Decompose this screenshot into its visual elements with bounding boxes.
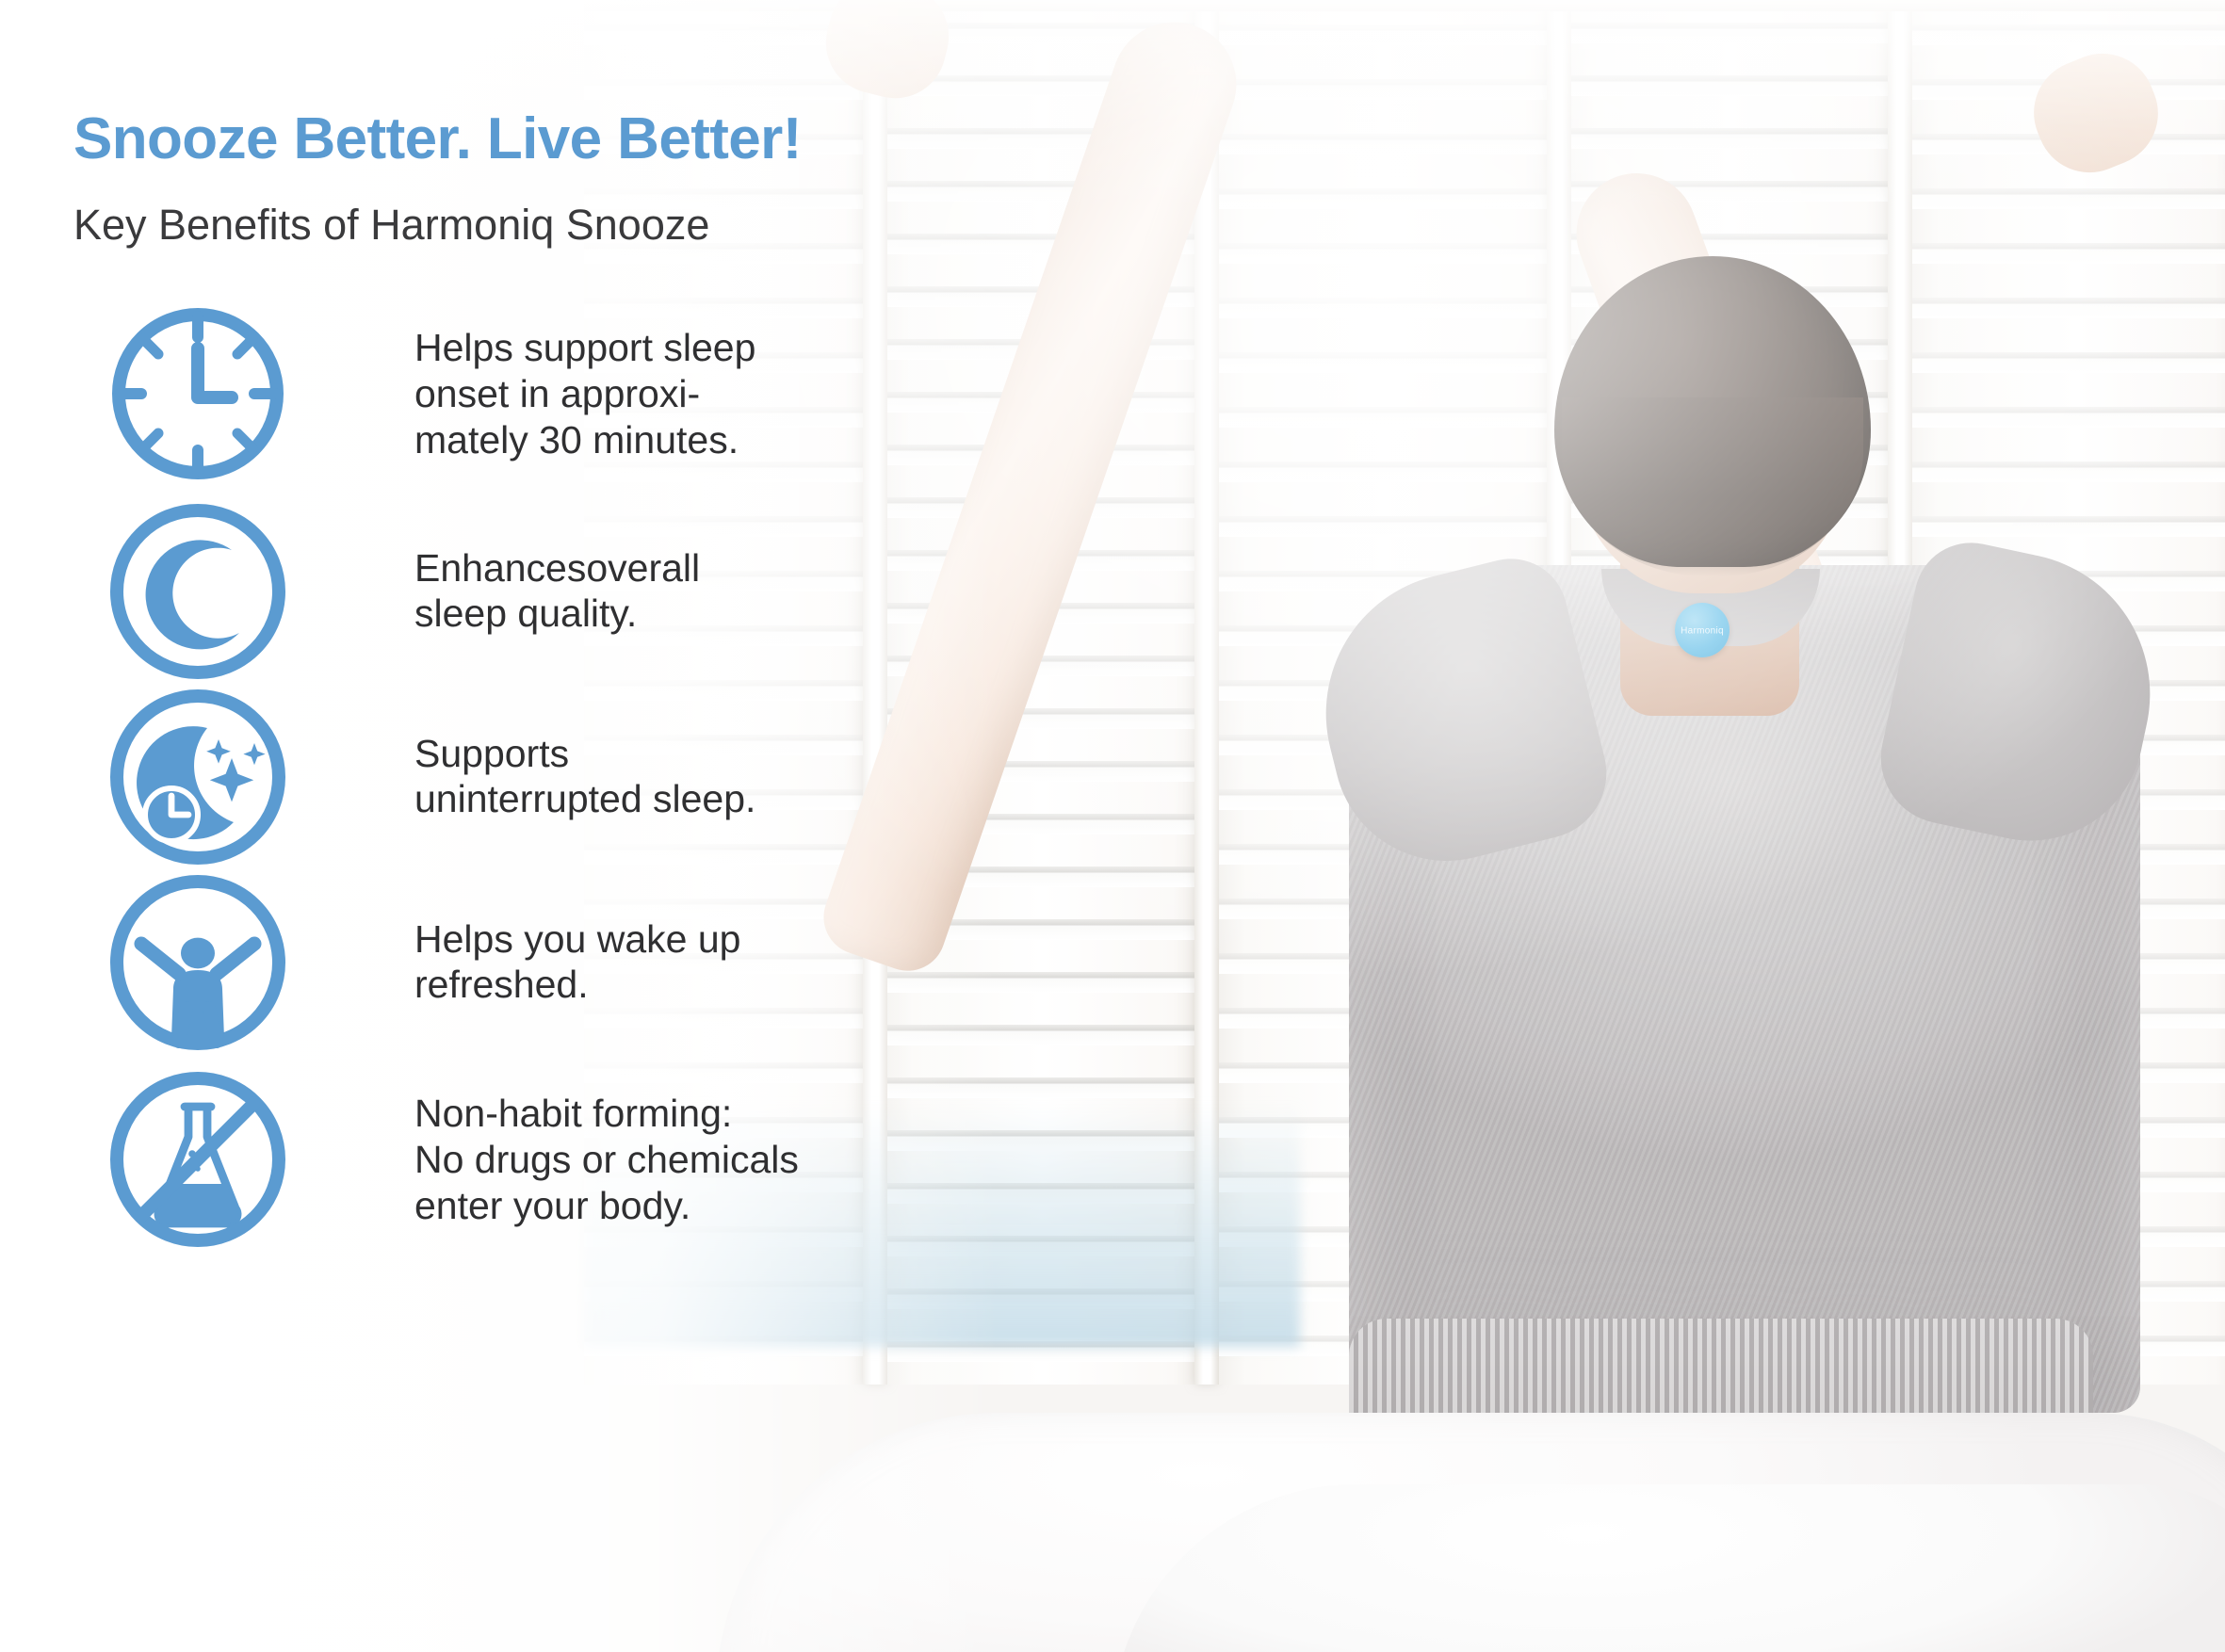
benefit-item: Supports uninterrupted sleep. <box>0 694 999 859</box>
content-column: Snooze Better. Live Better! Key Benefits… <box>0 0 1036 1652</box>
benefit-item: Non-habit forming: No drugs or chemicals… <box>0 1065 999 1254</box>
no-flask-icon <box>104 1065 292 1254</box>
benefit-text: Non-habit forming: No drugs or chemicals… <box>414 1091 799 1228</box>
benefits-list: Helps support sleep onset in approxi- ma… <box>0 300 999 1254</box>
moon-stars-clock-icon <box>104 683 292 871</box>
benefit-text: Supports uninterrupted sleep. <box>414 731 755 823</box>
page-title: Snooze Better. Live Better! <box>73 105 802 172</box>
benefit-item: Helps you wake up refreshed. <box>0 880 999 1045</box>
benefit-item: z Z Enhancesoverall sleep quality. <box>0 509 999 673</box>
benefit-item: Helps support sleep onset in approxi- ma… <box>0 300 999 488</box>
page-subtitle: Key Benefits of Harmoniq Snooze <box>73 201 709 250</box>
benefit-text: Helps support sleep onset in approxi- ma… <box>414 325 755 462</box>
benefit-text: Enhancesoverall sleep quality. <box>414 545 700 638</box>
svg-text:Z: Z <box>220 539 255 602</box>
svg-text:z: z <box>194 571 219 625</box>
clock-icon <box>104 300 292 488</box>
moon-zzz-icon: z Z <box>104 497 292 686</box>
person-arms-raised-icon <box>104 868 292 1057</box>
benefit-text: Helps you wake up refreshed. <box>414 916 740 1009</box>
promo-banner: Harmoniq Snooze Better. Live Better! Key… <box>0 0 2225 1652</box>
